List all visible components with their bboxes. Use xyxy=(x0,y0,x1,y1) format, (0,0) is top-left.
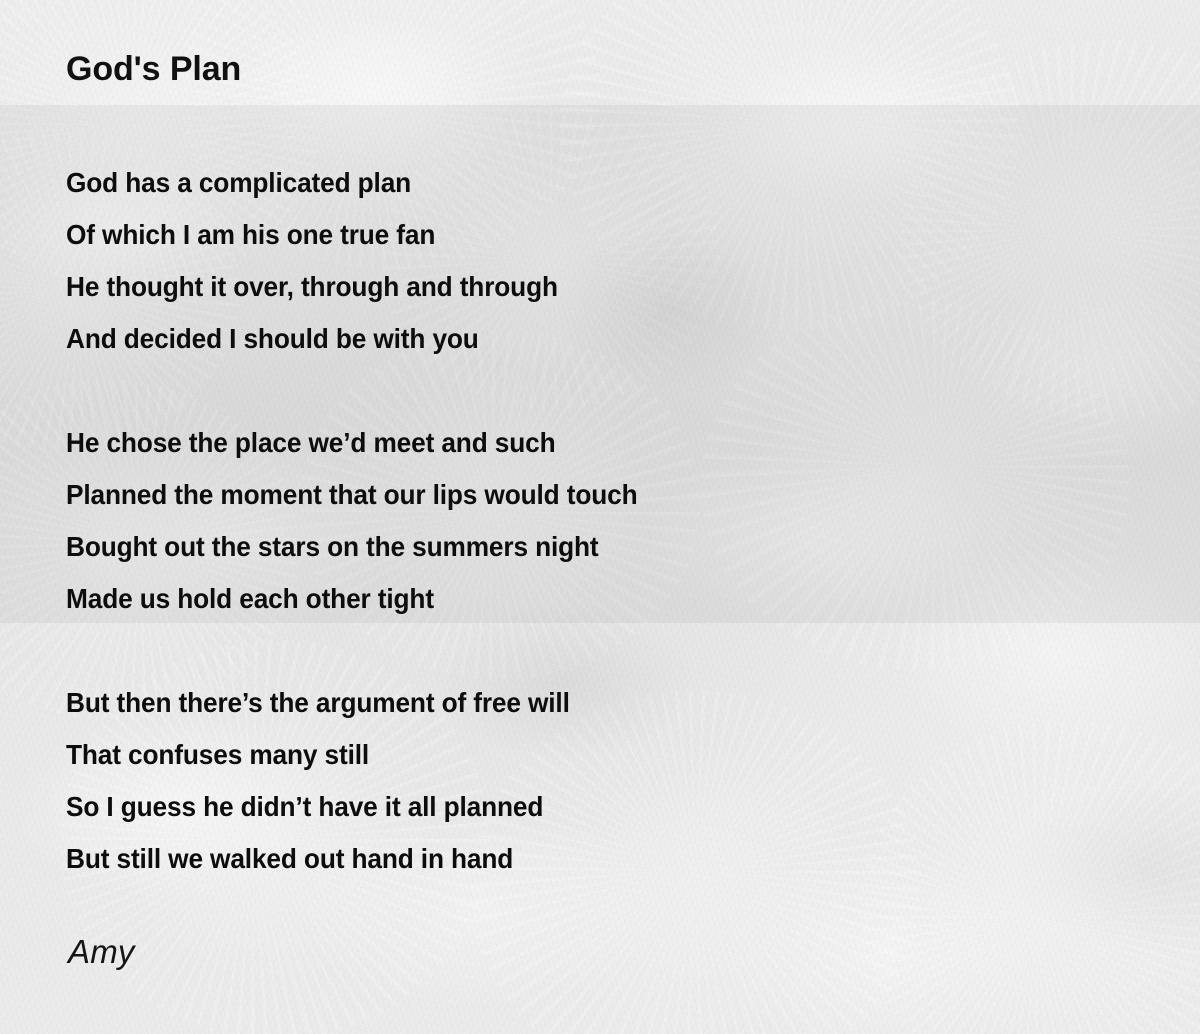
poem-title: God's Plan xyxy=(66,50,241,89)
stanza-2: He chose the place we’d meet and such Pl… xyxy=(66,417,1126,625)
poem-line: Planned the moment that our lips would t… xyxy=(66,469,1078,521)
poem-line: Bought out the stars on the summers nigh… xyxy=(66,521,1078,573)
poem-content: God's Plan God has a complicated plan Of… xyxy=(0,0,1200,1034)
poem-line: And decided I should be with you xyxy=(66,313,1078,365)
poem-line: But then there’s the argument of free wi… xyxy=(66,677,1078,729)
poem-line: God has a complicated plan xyxy=(66,157,1078,209)
poem-line: Made us hold each other tight xyxy=(66,573,1078,625)
stanza-3: But then there’s the argument of free wi… xyxy=(66,677,1126,885)
poem-line: Of which I am his one true fan xyxy=(66,209,1078,261)
poem-line: But still we walked out hand in hand xyxy=(66,833,1078,885)
poem-line: He chose the place we’d meet and such xyxy=(66,417,1078,469)
poem-image-canvas: God's Plan God has a complicated plan Of… xyxy=(0,0,1200,1034)
poem-line: That confuses many still xyxy=(66,729,1078,781)
poem-author-signature: Amy xyxy=(68,933,135,971)
stanza-1: God has a complicated plan Of which I am… xyxy=(66,157,1126,365)
poem-body: God has a complicated plan Of which I am… xyxy=(66,157,1126,937)
poem-line: So I guess he didn’t have it all planned xyxy=(66,781,1078,833)
poem-line: He thought it over, through and through xyxy=(66,261,1078,313)
